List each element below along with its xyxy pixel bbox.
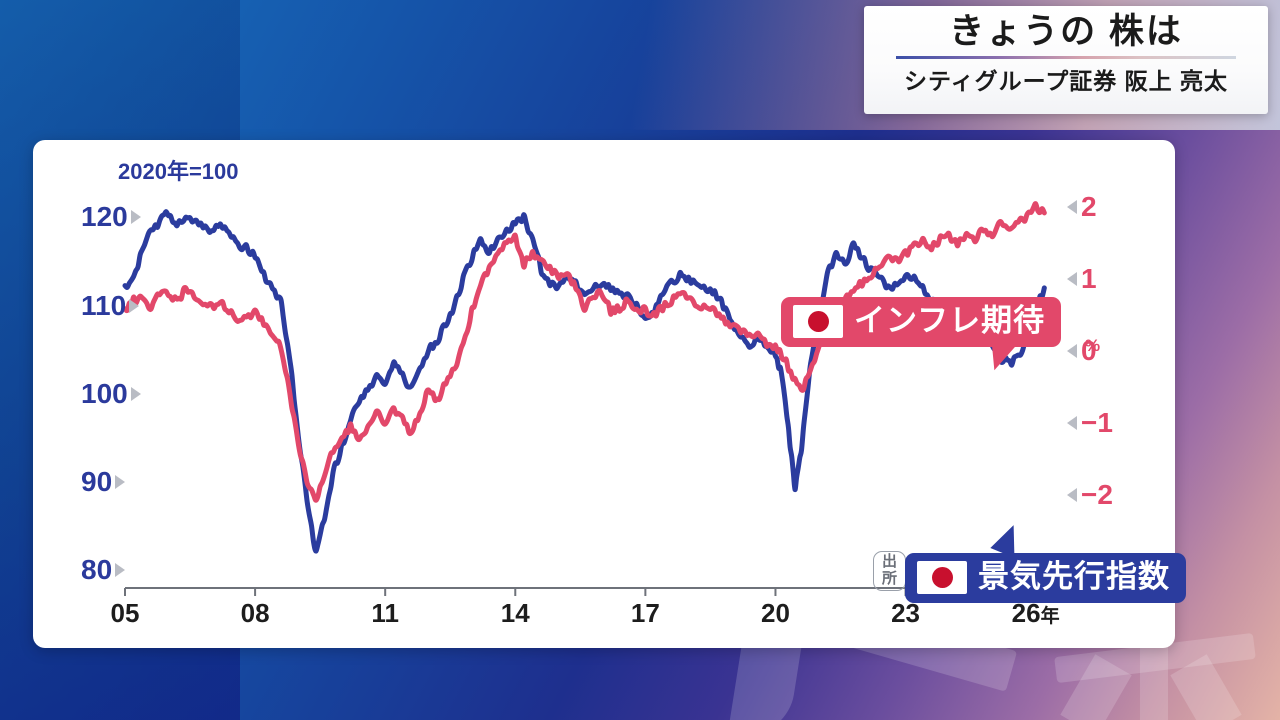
y-axis-right-tick: 2 xyxy=(1067,193,1097,221)
y-axis-left-tick-label: 120 xyxy=(81,203,128,231)
source-tag-label: 出所 xyxy=(873,551,906,591)
tick-triangle-icon xyxy=(1067,344,1077,358)
y-axis-right-unit: % xyxy=(1085,336,1100,356)
y-axis-right-tick: −1 xyxy=(1067,409,1113,437)
legend-red-label: インフレ期待 xyxy=(854,304,1045,339)
x-axis-tick-label: 20 xyxy=(761,598,790,629)
y-axis-left-tick: 100 xyxy=(81,380,141,408)
y-axis-left-tick: 120 xyxy=(81,203,141,231)
y-axis-left-tick: 80 xyxy=(81,556,125,584)
banner-subtitle: シティグループ証券 阪上 亮太 xyxy=(904,62,1228,96)
tick-triangle-icon xyxy=(1067,200,1077,214)
page-title: きょうの 株は xyxy=(949,10,1183,54)
legend-blue-label: 景気先行指数 xyxy=(978,560,1170,595)
tick-triangle-icon xyxy=(131,210,141,224)
tick-triangle-icon xyxy=(1067,416,1077,430)
y-axis-left-tick-label: 80 xyxy=(81,556,112,584)
y-axis-left-tick: 110 xyxy=(81,292,139,320)
y-axis-right-tick-label: 2 xyxy=(1081,193,1097,221)
tick-triangle-icon xyxy=(129,299,139,313)
series-line-red xyxy=(125,204,1044,501)
legend-leading-index[interactable]: 景気先行指数 xyxy=(905,553,1186,603)
x-axis-tick-label: 17 xyxy=(631,598,660,629)
tick-triangle-icon xyxy=(1067,272,1077,286)
chart-card: 2020年=100 1201101009080 210−1−2−3 % 0508… xyxy=(33,140,1175,648)
jp-flag-icon xyxy=(917,561,967,594)
x-axis-tick-label: 11 xyxy=(371,598,399,629)
y-axis-right-tick-label: 1 xyxy=(1081,265,1097,293)
x-axis-tick-label: 05 xyxy=(111,598,140,629)
series-line-blue xyxy=(125,212,1044,551)
title-banner: きょうの 株は シティグループ証券 阪上 亮太 xyxy=(864,6,1268,114)
tick-triangle-icon xyxy=(131,387,141,401)
y-axis-right-tick: −2 xyxy=(1067,481,1113,509)
tick-triangle-icon xyxy=(115,475,125,489)
banner-divider xyxy=(896,56,1236,59)
y-axis-left-tick-label: 90 xyxy=(81,468,112,496)
screenshot-stage: きょうの 株は シティグループ証券 阪上 亮太 2020年=100 120110… xyxy=(0,0,1280,720)
y-axis-left-tick: 90 xyxy=(81,468,125,496)
legend-inflation-expectation[interactable]: インフレ期待 xyxy=(781,297,1061,347)
tick-triangle-icon xyxy=(1067,488,1077,502)
y-axis-right-tick: 1 xyxy=(1067,265,1097,293)
y-axis-right-tick-label: −1 xyxy=(1081,409,1113,437)
x-axis-tick-label: 14 xyxy=(501,598,530,629)
y-axis-left-tick-label: 100 xyxy=(81,380,128,408)
jp-flag-icon xyxy=(793,305,843,338)
y-axis-left-tick-label: 110 xyxy=(81,292,126,320)
x-axis-tick-label: 08 xyxy=(241,598,270,629)
y-axis-right-tick-label: −2 xyxy=(1081,481,1113,509)
tick-triangle-icon xyxy=(115,563,125,577)
